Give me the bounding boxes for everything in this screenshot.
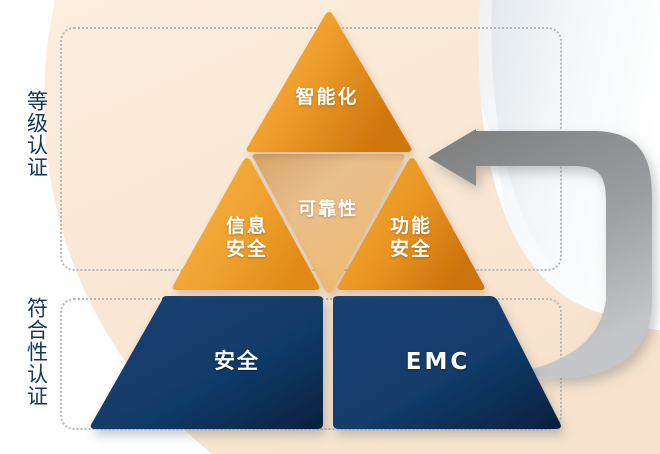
group-box-compliance — [60, 298, 562, 430]
side-label-compliance: 符合性认证 — [24, 297, 48, 407]
diagram-canvas: 等级认证 符合性认证 智能化 信息 安全 — [0, 0, 660, 454]
side-label-grade: 等级认证 — [24, 90, 48, 178]
group-box-grade — [60, 27, 562, 271]
